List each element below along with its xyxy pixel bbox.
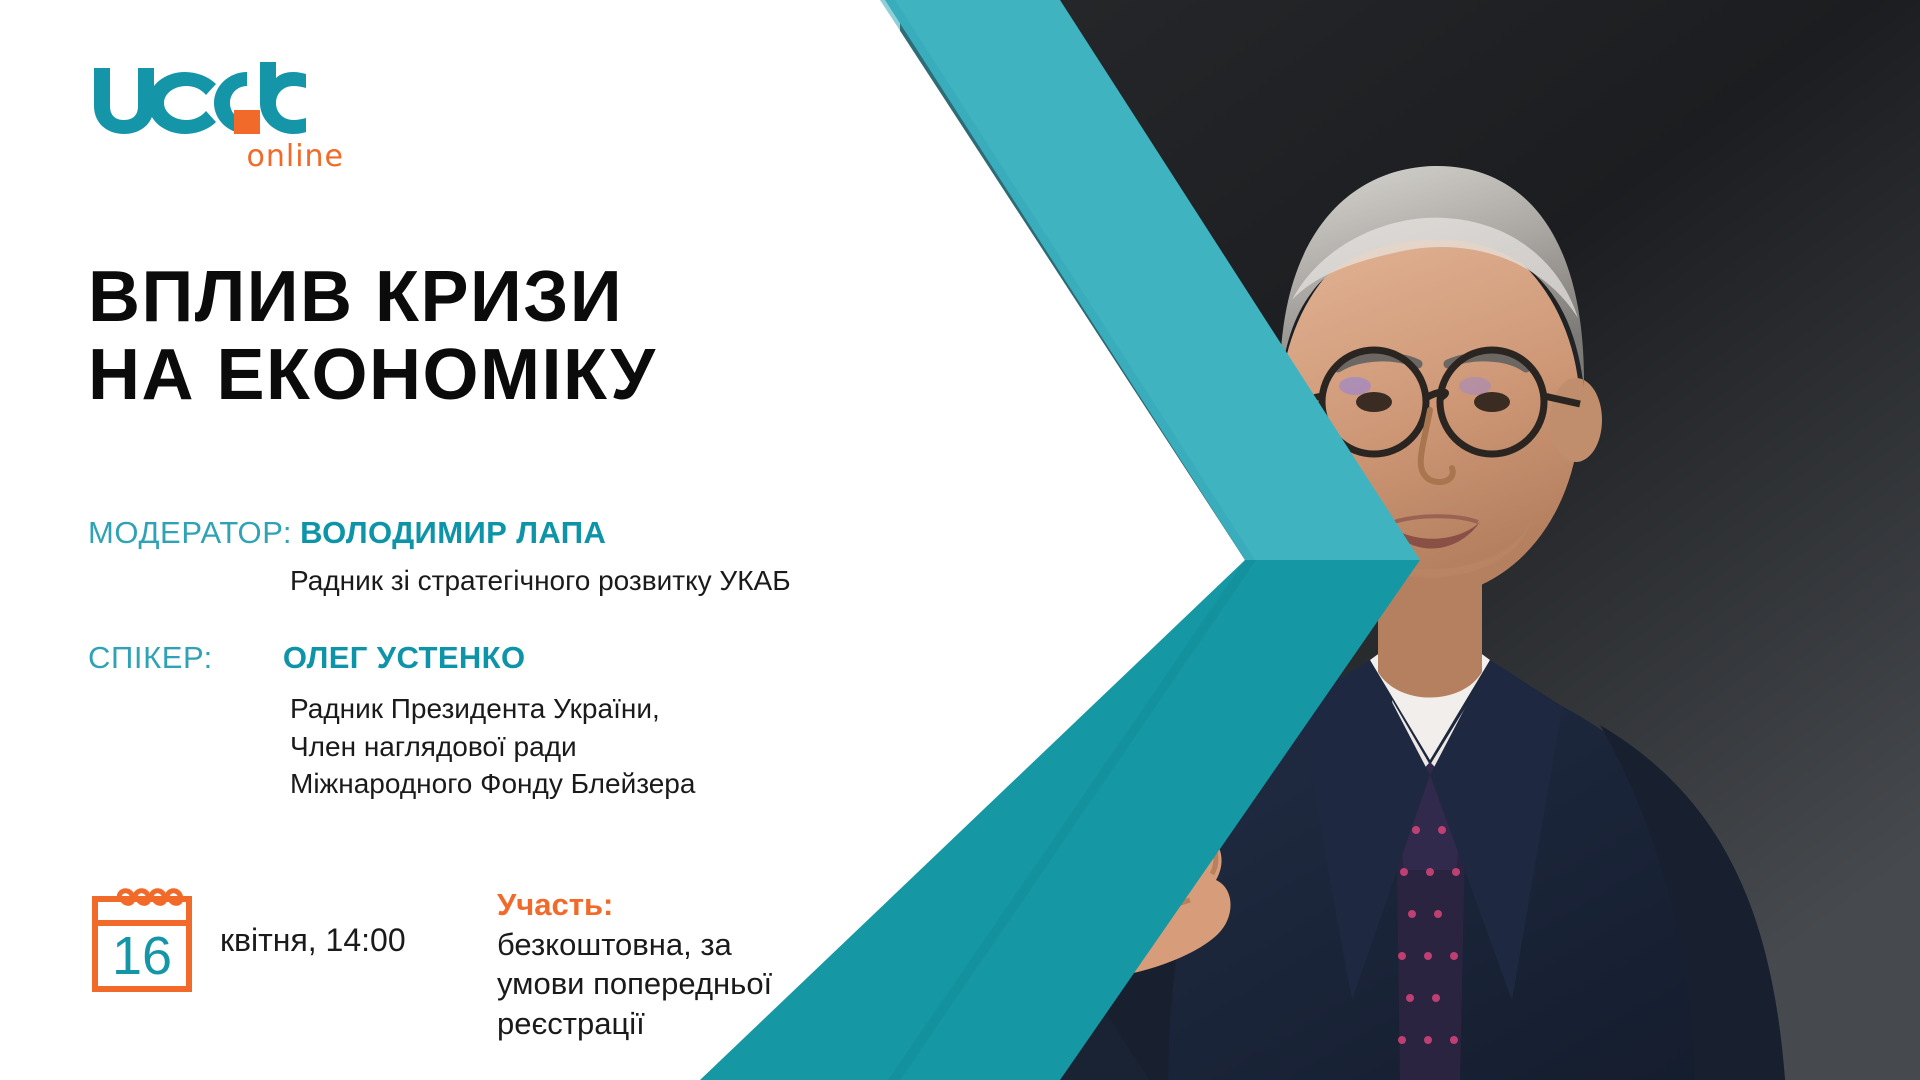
speaker-role-label: СПІКЕР: xyxy=(88,640,213,675)
ucab-wordmark-icon xyxy=(88,62,306,140)
participation-block: Участь: безкоштовна, за умови попередньо… xyxy=(497,885,772,1044)
speaker-desc-line-1: Радник Президента України, xyxy=(290,693,660,724)
speaker-desc-line-2: Член наглядової ради xyxy=(290,731,577,762)
title-line-1: ВПЛИВ КРИЗИ xyxy=(88,258,656,336)
moderator-role-label: МОДЕРАТОР: xyxy=(88,515,292,550)
page-title: ВПЛИВ КРИЗИ НА ЕКОНОМІКУ xyxy=(88,258,656,415)
webinar-announcement-banner: online ВПЛИВ КРИЗИ НА ЕКОНОМІКУ МОДЕРАТО… xyxy=(0,0,1920,1080)
participation-line-3: реєстрації xyxy=(497,1004,772,1044)
participation-line-2: умови попередньої xyxy=(497,964,772,1004)
speaker-description: Радник Президента України, Член наглядов… xyxy=(290,690,695,803)
svg-text:16: 16 xyxy=(112,926,172,986)
moderator-desc-line-1: Радник зі стратегічного розвитку УКАБ xyxy=(290,565,791,596)
moderator-description: Радник зі стратегічного розвитку УКАБ xyxy=(290,562,791,600)
participation-line-1: безкоштовна, за xyxy=(497,925,772,965)
speaker-row: СПІКЕР:ОЛЕГ УСТЕНКО xyxy=(88,640,526,676)
event-date-block: 16 квітня, 14:00 xyxy=(88,885,406,995)
logo-online-label: online xyxy=(88,142,348,172)
calendar-icon: 16 xyxy=(88,885,196,995)
title-line-2: НА ЕКОНОМІКУ xyxy=(88,336,656,414)
moderator-name: ВОЛОДИМИР ЛАПА xyxy=(300,515,606,550)
participation-heading: Участь: xyxy=(497,885,772,925)
ucab-logo[interactable]: online xyxy=(88,62,348,172)
event-date-text: квітня, 14:00 xyxy=(220,922,406,959)
speaker-name: ОЛЕГ УСТЕНКО xyxy=(283,640,526,675)
moderator-row: МОДЕРАТОР:ВОЛОДИМИР ЛАПА xyxy=(88,515,606,551)
speaker-desc-line-3: Міжнародного Фонду Блейзера xyxy=(290,768,695,799)
